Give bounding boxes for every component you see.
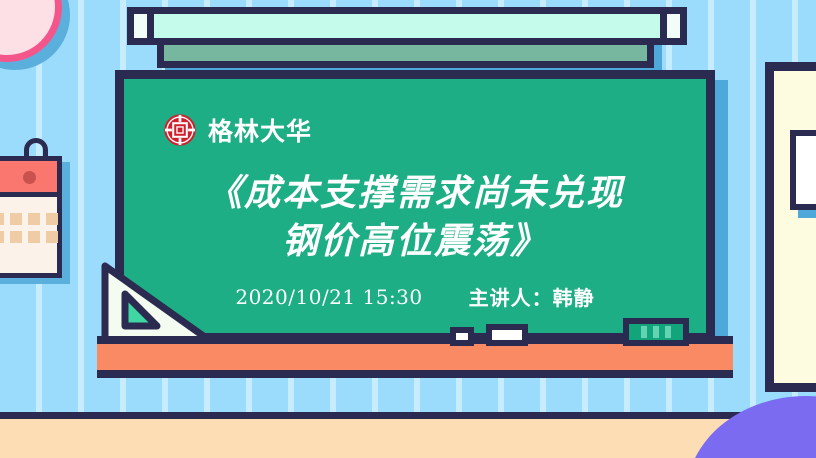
wall-baseboard: [0, 412, 816, 419]
presentation-slide: 格林大华 《成本支撑需求尚未兑现 钢价高位震荡》 2020/10/21 15:3…: [0, 0, 816, 458]
calendar-date-cell: [0, 231, 4, 243]
classroom-floor: [0, 419, 816, 458]
door-panel-icon: [765, 62, 816, 392]
calendar-knob: [23, 171, 36, 184]
eraser-stripe: [653, 326, 659, 338]
projector-roller-screen-icon: [127, 7, 687, 45]
slide-meta: 2020/10/21 15:30 主讲人：韩静: [133, 282, 697, 311]
roller-cap-right: [660, 7, 687, 45]
calendar-date-cell: [0, 213, 4, 225]
eraser-stripe: [665, 326, 671, 338]
slide-title-line-1: 《成本支撑需求尚未兑现: [133, 170, 697, 218]
roller-cap-left: [127, 7, 154, 45]
eraser-stripe: [641, 326, 647, 338]
greendh-seal-icon: [163, 113, 197, 147]
chalkboard-eraser-icon: [623, 318, 689, 346]
calendar-date-cell: [46, 213, 58, 225]
calendar-header: [0, 161, 57, 197]
slide-speaker: 主讲人：韩静: [469, 282, 595, 311]
slide-title-line-2: 钢价高位震荡》: [133, 218, 697, 266]
calendar-date-cell: [10, 231, 22, 243]
wall-calendar-icon: [0, 142, 74, 282]
blackboard-surface: 格林大华 《成本支撑需求尚未兑现 钢价高位震荡》 2020/10/21 15:3…: [133, 88, 697, 333]
brand-lockup: 格林大华: [163, 112, 312, 148]
calendar-date-grid: [0, 213, 58, 243]
wall-poster-icon: [790, 130, 816, 210]
brand-name: 格林大华: [208, 112, 312, 148]
slide-title: 《成本支撑需求尚未兑现 钢价高位震荡》: [133, 170, 697, 265]
chalk-piece-large: [486, 324, 528, 346]
slide-datetime: 2020/10/21 15:30: [235, 285, 422, 309]
chalk-piece-small: [450, 327, 474, 346]
calendar-date-cell: [10, 213, 22, 225]
calendar-date-cell: [46, 231, 58, 243]
calendar-body: [0, 156, 62, 278]
calendar-date-cell: [28, 231, 40, 243]
calendar-date-cell: [28, 213, 40, 225]
